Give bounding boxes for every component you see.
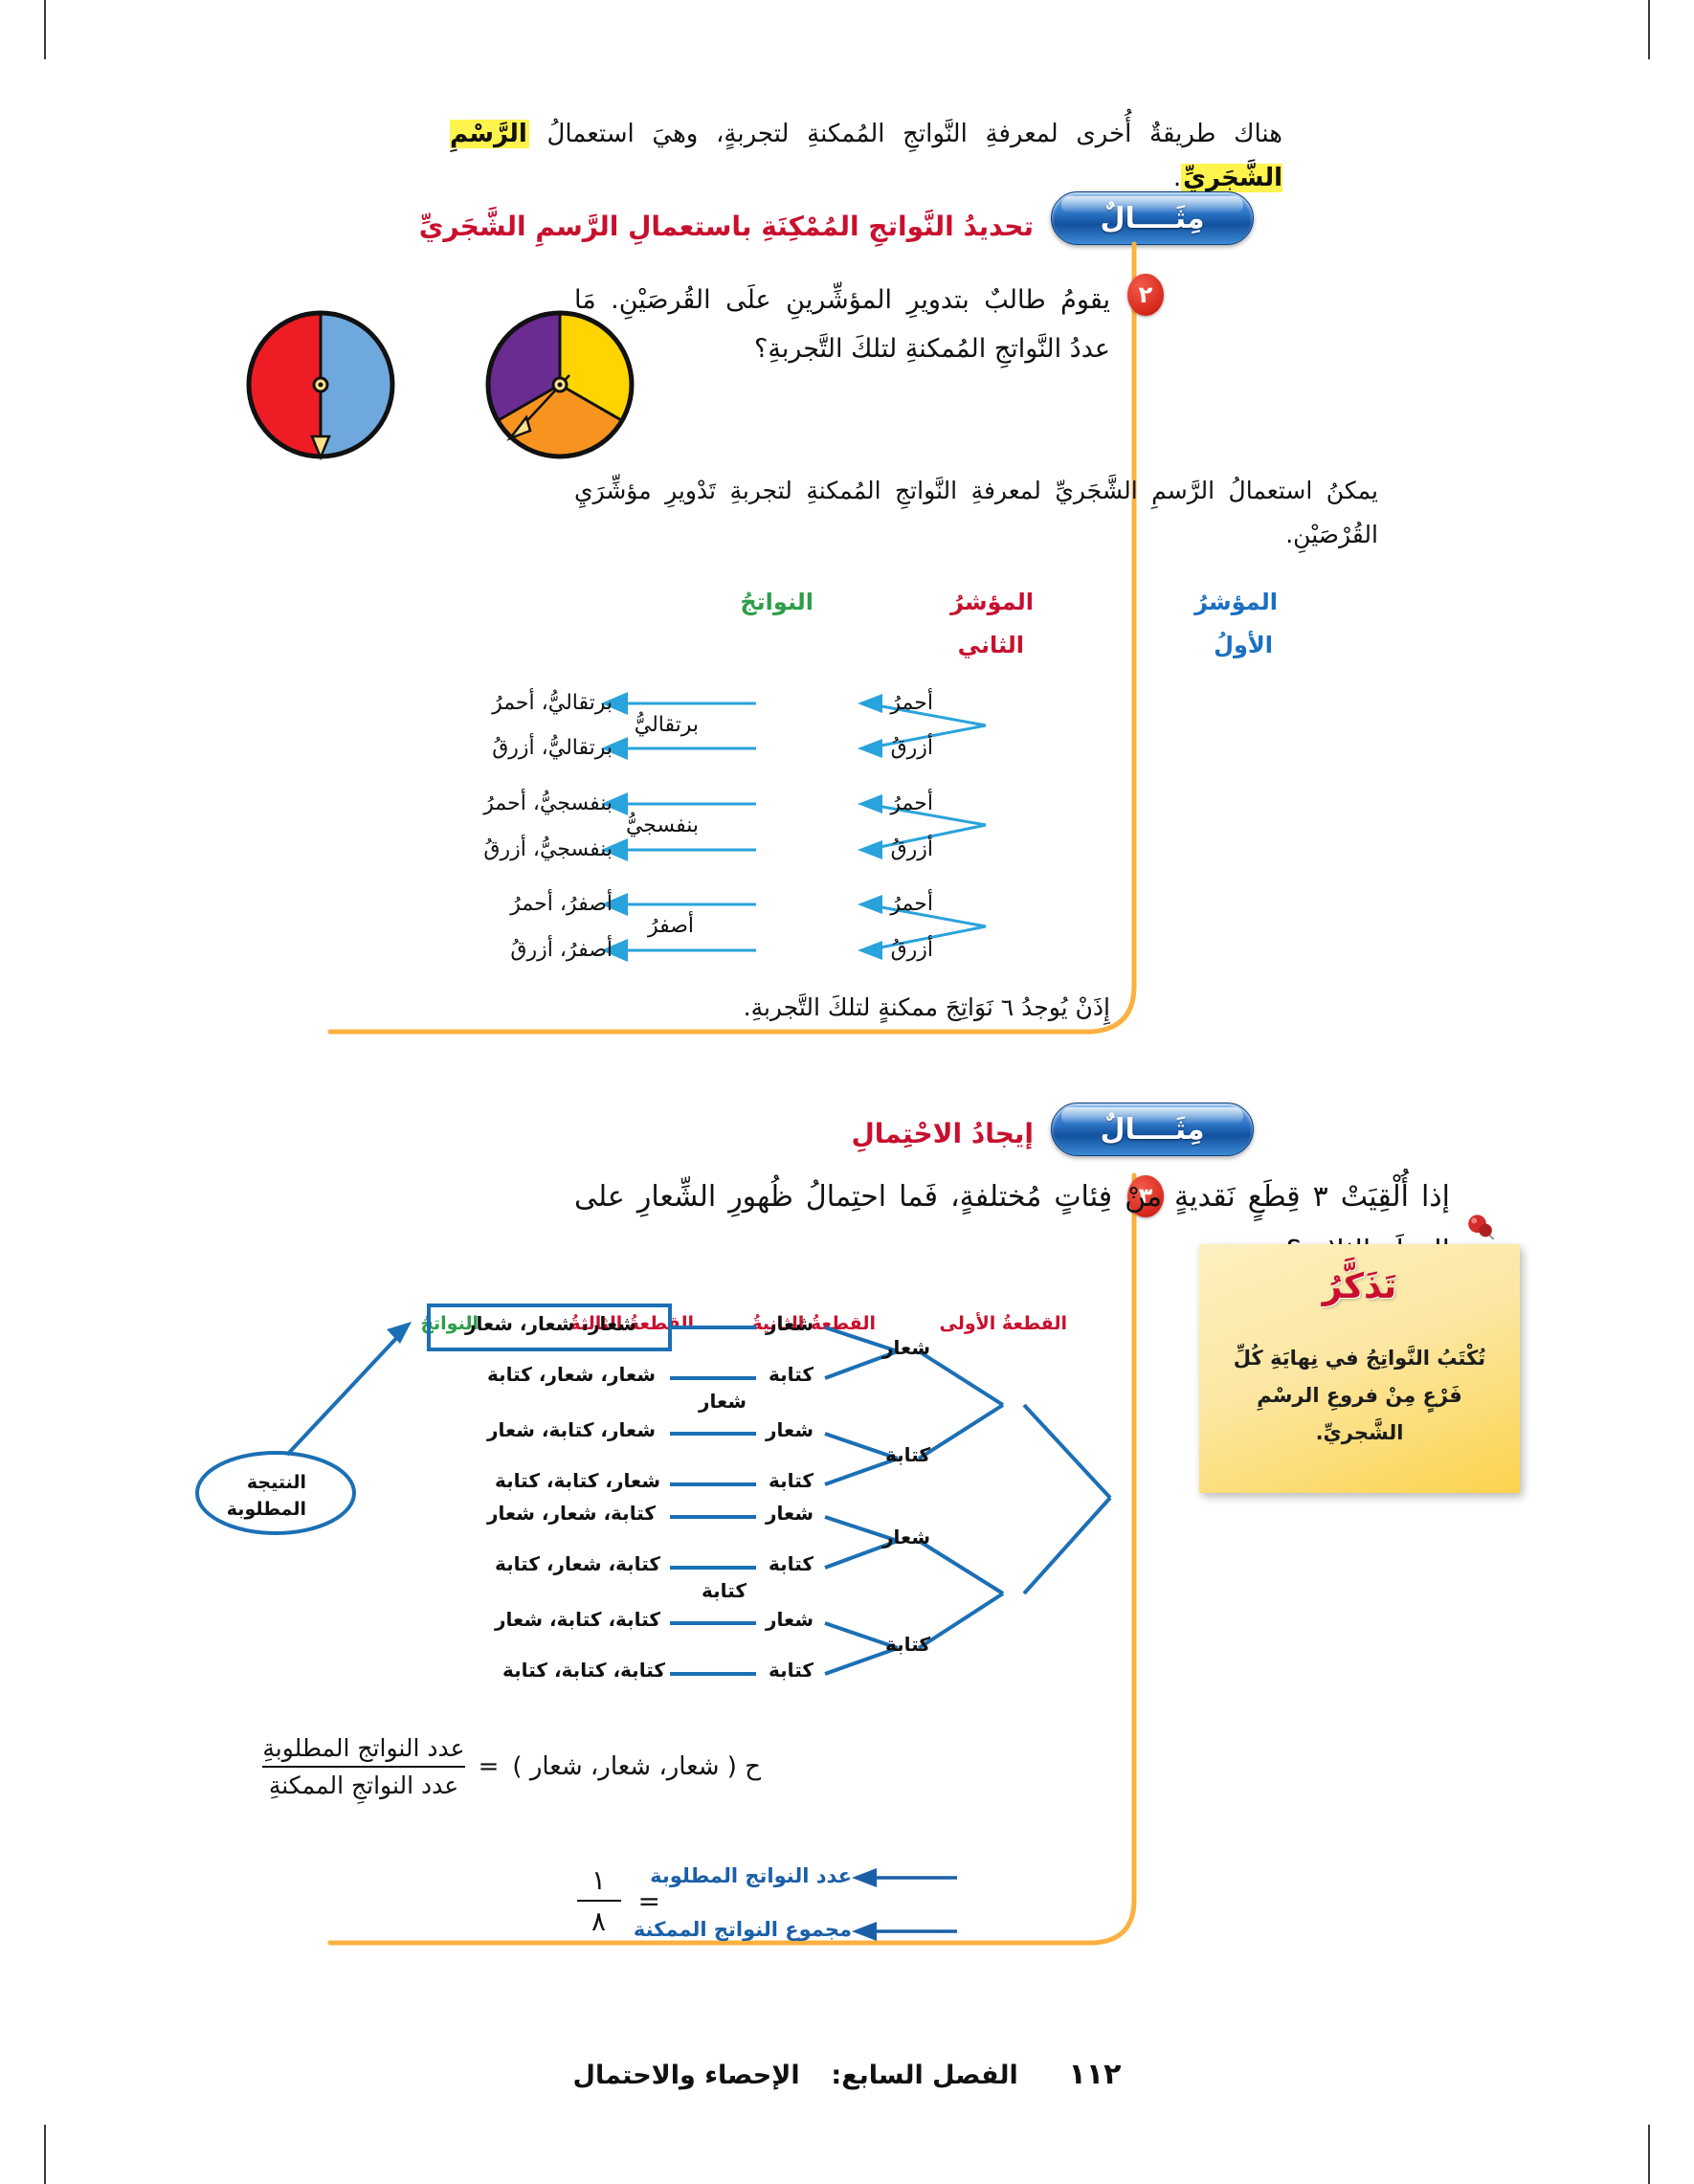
tree3-level3-item-1: كتابة bbox=[769, 1363, 814, 1386]
tree3-outcome-4: كتابة، شعار، شعار bbox=[487, 1502, 656, 1525]
tree2-outcome-3: بنفسجيُّ، أزرقُ bbox=[483, 837, 613, 861]
tree3-level3-item-3: كتابة bbox=[769, 1469, 814, 1492]
example-2-conclusion: إِذَنْ يُوجدُ ٦ نَوَاتِجَ ممكنةٍ لتلكَ ا… bbox=[574, 986, 1110, 1030]
tree3-level2-item-0: شعار bbox=[882, 1336, 930, 1359]
example-2-number: ٢ bbox=[1127, 274, 1164, 316]
tree2-header-outcomes: النواتجُ bbox=[740, 589, 814, 615]
crop-mark-bottom-left bbox=[44, 2125, 46, 2184]
tree2-header-col2-line1: المؤشرُ bbox=[950, 589, 1034, 615]
intro-paragraph: هناك طريقةٌ أُخرى لمعرفةِ النَّواتجِ الم… bbox=[450, 113, 1282, 200]
tree3-level3-item-0: شعار bbox=[766, 1312, 814, 1335]
tree2-level2-item-4: أحمرُ bbox=[890, 892, 933, 916]
tree3-level3-item-2: شعار bbox=[766, 1418, 814, 1441]
tree3-callout-ellipse bbox=[197, 1453, 354, 1533]
example-2-number-label: ٢ bbox=[1139, 281, 1153, 308]
formula-equals: = bbox=[479, 1752, 500, 1781]
footer-chapter-label: الفصل السابع: bbox=[831, 2061, 1017, 2090]
crop-mark-top-right bbox=[1648, 0, 1650, 59]
intro-text-after: . bbox=[1173, 164, 1181, 192]
tree2-outcome-2: بنفسجيُّ، أحمرُ bbox=[483, 791, 613, 815]
tree3-outcome-1: شعار، شعار، كتابة bbox=[487, 1363, 656, 1386]
remember-sticky-note: تَذَكَّرُ تُكْتَبُ النَّواتِجُ في نِهايَ… bbox=[1199, 1244, 1520, 1493]
textbook-page: هناك طريقةٌ أُخرى لمعرفةِ النَّواتجِ الم… bbox=[0, 0, 1694, 2184]
page-number: ١١٢ bbox=[1069, 2058, 1122, 2091]
tree3-level3-item-5: كتابة bbox=[769, 1552, 814, 1575]
page-footer: ١١٢ الفصل السابع: الإحصاء والاحتمال bbox=[0, 2058, 1694, 2091]
probability-formula-row: ح ( شعار، شعار، شعار ) = عدد النواتج الم… bbox=[262, 1734, 761, 1799]
tree2-header-col1-line1: المؤشرُ bbox=[1194, 589, 1278, 615]
formula-fraction: عدد النواتج المطلوبةِ عدد النواتجِ الممك… bbox=[262, 1734, 464, 1799]
tree3-callout-line2: المطلوبة bbox=[227, 1499, 306, 1520]
formula-fraction-bar bbox=[262, 1766, 464, 1768]
tree3-level3-item-7: كتابة bbox=[769, 1659, 814, 1682]
tree2-level1-item-1: بنفسجيُّ bbox=[626, 813, 699, 837]
tree2-level2-item-5: أزرقُ bbox=[891, 938, 933, 962]
tree2-level1-item-2: أصفرُ bbox=[648, 914, 694, 938]
tree2-outcome-4: أصفرُ، أحمرُ bbox=[510, 892, 613, 916]
tree3-level1-item-1: كتابة bbox=[702, 1579, 747, 1602]
result-note-denominator: مجموع النواتج الممكنة bbox=[634, 1918, 852, 1941]
tree3-level3-item-4: شعار bbox=[766, 1502, 814, 1525]
tree3-level2-item-3: كتابة bbox=[885, 1633, 930, 1656]
tree3-level3-item-6: شعار bbox=[766, 1608, 814, 1631]
push-pin-icon bbox=[1464, 1212, 1497, 1244]
tree3-level2-item-1: كتابة bbox=[885, 1443, 930, 1466]
tree3-level2-item-2: شعار bbox=[882, 1526, 930, 1549]
tree2-header-col1-line2: الأولُ bbox=[1214, 632, 1273, 658]
tree2-outcome-1: برتقاليُّ، أزرقُ bbox=[492, 736, 613, 760]
tree3-outcome-3: شعار، كتابة، كتابة bbox=[495, 1469, 660, 1492]
tree2-level2-item-1: أزرقُ bbox=[891, 736, 933, 760]
tree3-outcome-0: شعار، شعار، شعار bbox=[465, 1312, 636, 1335]
spinner-three-color bbox=[488, 313, 632, 457]
tree3-header-coin1: القطعةُ الأولى bbox=[939, 1313, 1067, 1334]
formula-denominator: عدد النواتجِ الممكنةِ bbox=[262, 1772, 464, 1799]
sticky-note-body: تُكْتَبُ النَّواتِجُ في نِهايَةِ كُلِّ ف… bbox=[1216, 1340, 1503, 1452]
result-fraction: ١ ٨ bbox=[577, 1864, 621, 1937]
example-2-badge: مِثَــــالٌ bbox=[1051, 191, 1254, 245]
tree2-level2-item-2: أحمرُ bbox=[890, 791, 933, 815]
intro-text-before: هناك طريقةٌ أُخرى لمعرفةِ النَّواتجِ الم… bbox=[529, 120, 1282, 148]
tree3-outcome-2: شعار، كتابة، شعار bbox=[487, 1418, 656, 1441]
example-2-badge-label: مِثَــــالٌ bbox=[1100, 202, 1204, 235]
example-2-title: تحديدُ النَّواتجِ المُمْكِنَةِ باستعمالِ… bbox=[419, 211, 1034, 242]
tree3-outcome-7: كتابة، كتابة، كتابة bbox=[502, 1659, 665, 1682]
example-3-title: إيجادُ الاحْتِمالِ bbox=[851, 1118, 1034, 1149]
result-denominator: ٨ bbox=[577, 1905, 621, 1937]
tree2-header-col2-line2: الثاني bbox=[958, 632, 1024, 658]
spinner-group bbox=[239, 287, 775, 479]
sticky-note-title: تَذَكَّرُ bbox=[1199, 1267, 1520, 1306]
footer-subject-label: الإحصاء والاحتمال bbox=[573, 2061, 800, 2090]
tree2-level2-item-0: أحمرُ bbox=[890, 691, 933, 715]
tree3-callout-line1: النتيجة bbox=[247, 1472, 306, 1493]
crop-mark-bottom-right bbox=[1648, 2125, 1650, 2184]
result-note-numerator: عدد النواتج المطلوبة bbox=[650, 1864, 852, 1887]
example-3-badge: مِثَــــالٌ bbox=[1051, 1103, 1254, 1156]
tree3-level1-item-0: شعار bbox=[699, 1390, 747, 1413]
tree3-outcome-6: كتابة، كتابة، شعار bbox=[495, 1608, 660, 1631]
formula-numerator: عدد النواتج المطلوبةِ bbox=[262, 1734, 464, 1762]
example-2-solution: يمكنُ استعمالُ الرَّسمِ الشَّجَريِّ لمعر… bbox=[574, 469, 1378, 558]
crop-mark-top-left bbox=[44, 0, 46, 59]
formula-lhs: ح ( شعار، شعار، شعار ) bbox=[512, 1752, 761, 1781]
tree3-outcome-5: كتابة، شعار، كتابة bbox=[495, 1552, 660, 1575]
result-equals: = bbox=[638, 1885, 660, 1917]
tree2-level2-item-3: أزرقُ bbox=[891, 837, 933, 861]
tree2-level1-item-0: برتقاليُّ bbox=[635, 713, 699, 737]
result-fraction-bar bbox=[577, 1900, 621, 1902]
result-numerator: ١ bbox=[577, 1864, 621, 1896]
example-3-badge-label: مِثَــــالٌ bbox=[1100, 1113, 1204, 1147]
tree2-outcome-0: برتقاليُّ، أحمرُ bbox=[492, 691, 613, 715]
spinner-red-blue bbox=[249, 313, 392, 457]
tree2-outcome-5: أصفرُ، أزرقُ bbox=[510, 938, 613, 962]
